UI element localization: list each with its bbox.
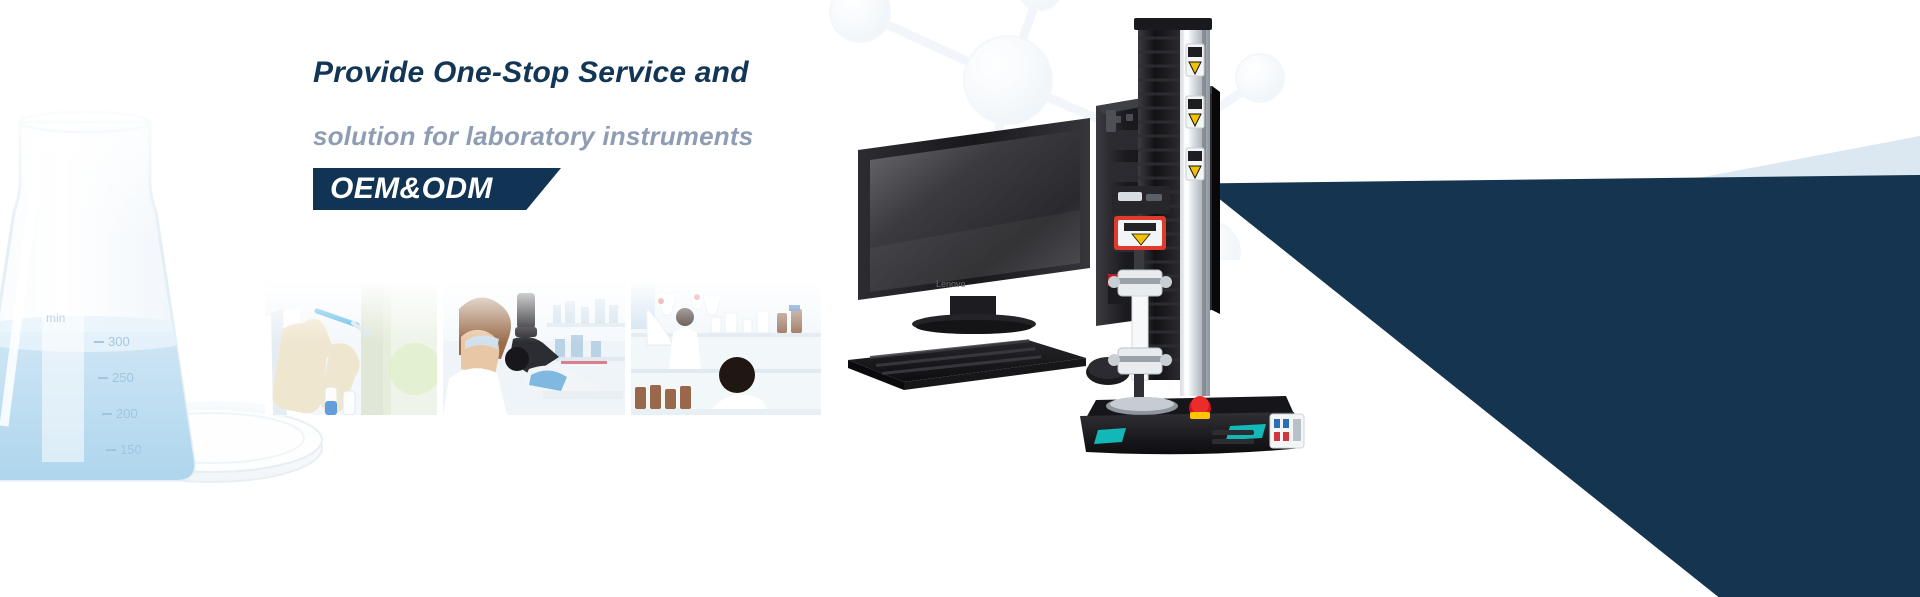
tower: Lenovo	[1096, 86, 1220, 326]
navy-arrow-wedge	[1200, 175, 1920, 597]
mouse	[1086, 357, 1130, 385]
subheadline-text: solution for laboratory instruments	[313, 120, 1073, 153]
photo-lab-scene	[631, 283, 821, 415]
oem-odm-badge: OEM&ODM	[313, 168, 561, 210]
headline-text: Provide One-Stop Service and	[313, 54, 1073, 92]
svg-text:min: min	[46, 311, 65, 325]
svg-text:Lenovo: Lenovo	[1140, 292, 1173, 303]
svg-text:250: 250	[112, 370, 134, 385]
machine-base	[1080, 396, 1304, 454]
promo-banner: 300 250 200 150 min Provide One-Stop Ser…	[0, 0, 1920, 597]
svg-text:150: 150	[120, 442, 142, 457]
specimen-grips	[1108, 250, 1172, 400]
flask-graduations: 300 250 200 150 min	[46, 311, 142, 457]
svg-text:300: 300	[108, 334, 130, 349]
photo-pipetting	[265, 283, 437, 415]
headline-block: Provide One-Stop Service and solution fo…	[313, 54, 1073, 210]
warning-labels	[1186, 44, 1204, 180]
photo-microscope	[443, 283, 625, 415]
photo-strip	[265, 283, 821, 415]
keyboard	[848, 339, 1086, 390]
svg-text:Lenovo: Lenovo	[936, 279, 966, 289]
svg-text:200: 200	[116, 406, 138, 421]
crosshead	[1112, 186, 1170, 250]
flask-body	[0, 112, 220, 496]
badge-label: OEM&ODM	[330, 172, 493, 206]
